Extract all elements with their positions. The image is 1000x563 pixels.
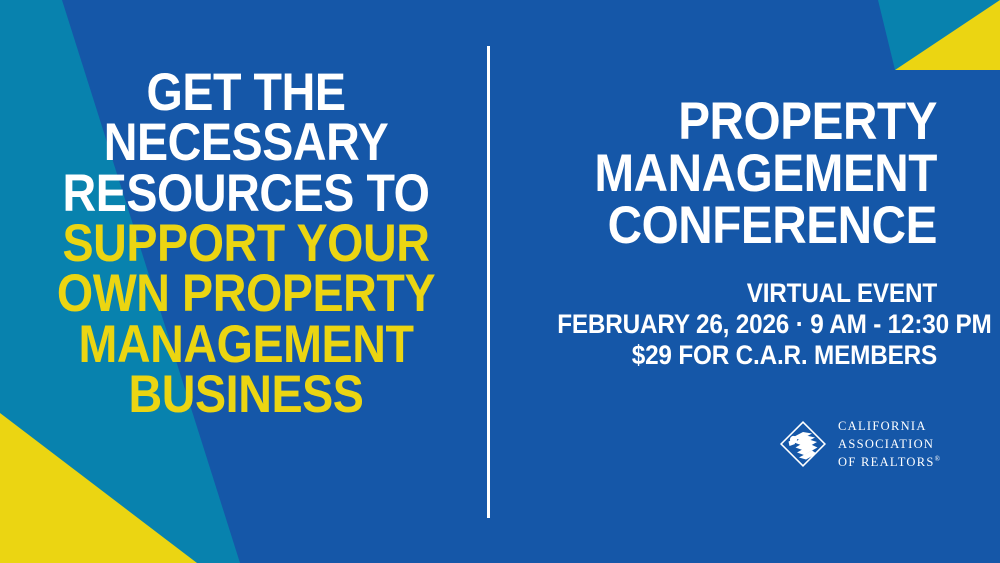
headline-line-2: NECESSARY: [47, 118, 445, 168]
headline-line-4: SUPPORT YOUR: [47, 219, 445, 269]
logo-text-line-2: ASSOCIATION: [838, 436, 941, 454]
logo-text-line-3-label: OF REALTORS: [838, 455, 935, 469]
event-info-block: PROPERTY MANAGEMENT CONFERENCE VIRTUAL E…: [515, 96, 937, 372]
headline-line-3: RESOURCES TO: [47, 169, 445, 219]
event-date-time: FEBRUARY 26, 2026 · 9 AM - 12:30 PM: [557, 309, 937, 340]
car-logo-text: CALIFORNIA ASSOCIATION OF REALTORS®: [838, 418, 941, 471]
left-headline-block: GET THE NECESSARY RESOURCES TO SUPPORT Y…: [20, 68, 472, 420]
logo-text-line-3: OF REALTORS®: [838, 454, 941, 472]
promotional-banner: GET THE NECESSARY RESOURCES TO SUPPORT Y…: [0, 0, 1000, 563]
logo-text-line-1: CALIFORNIA: [838, 418, 941, 436]
event-title-line-3: CONFERENCE: [557, 200, 937, 252]
car-eagle-logo-icon: [779, 420, 827, 470]
car-logo: CALIFORNIA ASSOCIATION OF REALTORS®: [779, 418, 941, 471]
vertical-divider: [487, 46, 490, 518]
event-format: VIRTUAL EVENT: [557, 278, 937, 309]
event-title-line-2: MANAGEMENT: [557, 148, 937, 200]
headline-line-6: MANAGEMENT: [47, 320, 445, 370]
event-details: VIRTUAL EVENT FEBRUARY 26, 2026 · 9 AM -…: [515, 278, 937, 372]
headline-line-1: GET THE: [47, 68, 445, 118]
event-title-line-1: PROPERTY: [557, 96, 937, 148]
event-price: $29 FOR C.A.R. MEMBERS: [557, 340, 937, 371]
registered-mark-icon: ®: [935, 454, 942, 462]
headline-line-7: BUSINESS: [47, 370, 445, 420]
headline-line-5: OWN PROPERTY: [47, 269, 445, 319]
